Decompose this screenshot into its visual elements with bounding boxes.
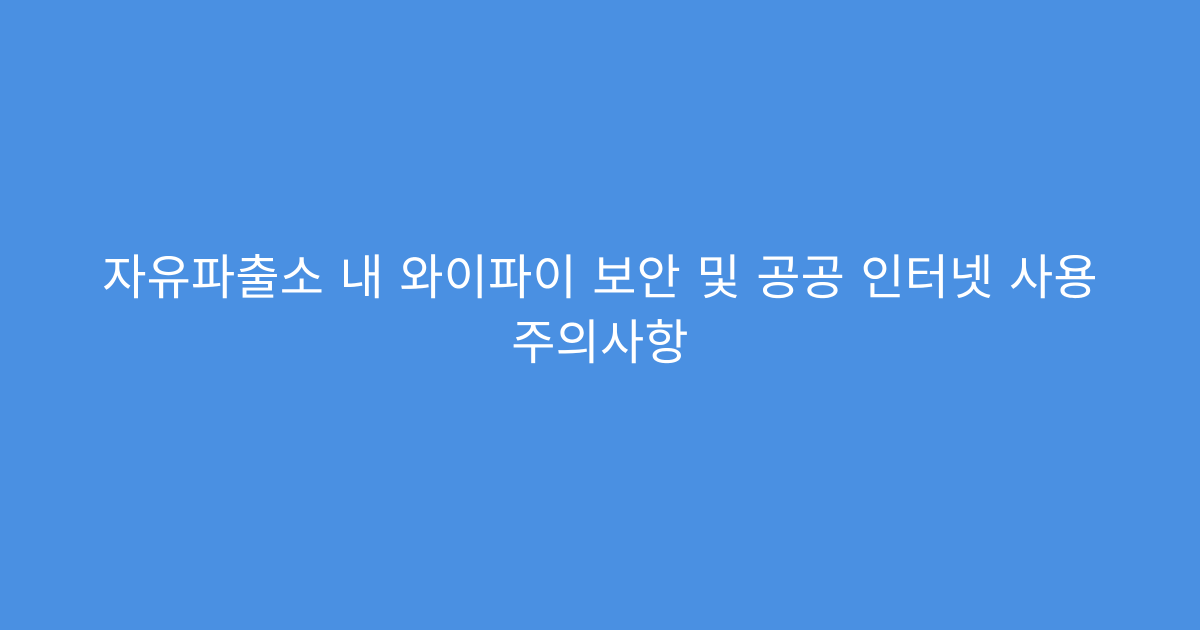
og-share-card: 자유파출소 내 와이파이 보안 및 공공 인터넷 사용 주의사항 (0, 0, 1200, 630)
page-title: 자유파출소 내 와이파이 보안 및 공공 인터넷 사용 주의사항 (60, 246, 1140, 376)
title-block: 자유파출소 내 와이파이 보안 및 공공 인터넷 사용 주의사항 (0, 246, 1200, 376)
